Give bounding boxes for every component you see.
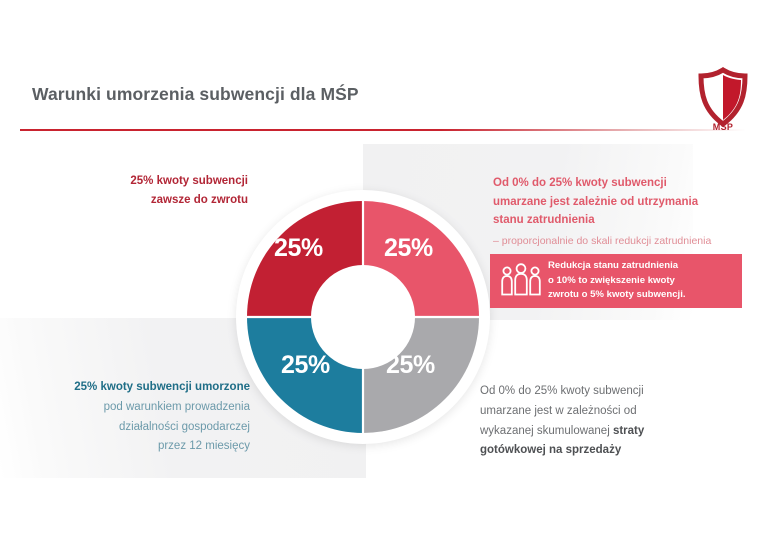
caption-top-left-line2: zawsze do zwrotu xyxy=(40,191,248,210)
slice-label-top-right: 25% xyxy=(384,234,433,263)
caption-top-left-line1: 25% kwoty subwencji xyxy=(40,172,248,191)
caption-top-right: Od 0% do 25% kwoty subwencji umarzane je… xyxy=(493,174,745,250)
caption-bottom-left-line4: przez 12 miesięcy xyxy=(10,437,250,457)
callout-line3: zwrotu o 5% kwoty subwencji. xyxy=(548,288,686,303)
caption-bottom-left-head: 25% kwoty subwencji umorzone xyxy=(10,378,250,398)
slice-label-bottom-right: 25% xyxy=(386,351,435,380)
caption-bottom-right-line1: Od 0% do 25% kwoty subwencji xyxy=(480,382,742,402)
caption-bottom-right-line4-bold: gotówkowej na sprzedaży xyxy=(480,444,621,456)
callout-text: Redukcja stanu zatrudnienia o 10% to zwi… xyxy=(548,259,686,304)
caption-bottom-right-line4: gotówkowej na sprzedaży xyxy=(480,441,742,461)
caption-top-right-line2: umarzane jest zależnie od utrzymania xyxy=(493,193,745,212)
caption-top-right-line3: stanu zatrudnienia xyxy=(493,211,745,230)
caption-bottom-right-line3-normal: wykazanej skumulowanej xyxy=(480,425,613,437)
infographic-canvas: Warunki umorzenia subwencji dla MŚP MŚP … xyxy=(0,0,768,559)
caption-bottom-left: 25% kwoty subwencji umorzone pod warunki… xyxy=(10,378,250,457)
caption-top-right-line1: Od 0% do 25% kwoty subwencji xyxy=(493,174,745,193)
title-divider xyxy=(20,129,746,131)
caption-top-left: 25% kwoty subwencji zawsze do zwrotu xyxy=(40,172,248,210)
page-title: Warunki umorzenia subwencji dla MŚP xyxy=(32,84,359,105)
logo-label: MŚP xyxy=(695,122,751,132)
slice-label-top-left: 25% xyxy=(274,234,323,263)
caption-top-right-subline: – proporcjonalnie do skali redukcji zatr… xyxy=(493,233,745,250)
caption-bottom-right-line2: umarzane jest w zależności od xyxy=(480,402,742,422)
caption-bottom-right: Od 0% do 25% kwoty subwencji umarzane je… xyxy=(480,382,742,461)
caption-bottom-left-line2: pod warunkiem prowadzenia xyxy=(10,398,250,418)
caption-bottom-left-line3: działalności gospodarczej xyxy=(10,418,250,438)
callout-line2: o 10% to zwiększenie kwoty xyxy=(548,274,686,289)
callout-box: Redukcja stanu zatrudnienia o 10% to zwi… xyxy=(490,254,742,308)
donut-chart: 25% 25% 25% 25% xyxy=(245,199,481,435)
three-people-icon xyxy=(498,261,544,301)
callout-line1: Redukcja stanu zatrudnienia xyxy=(548,259,686,274)
caption-bottom-right-line3: wykazanej skumulowanej straty xyxy=(480,422,742,442)
slice-label-bottom-left: 25% xyxy=(281,351,330,380)
caption-bottom-right-line3-bold: straty xyxy=(613,425,644,437)
